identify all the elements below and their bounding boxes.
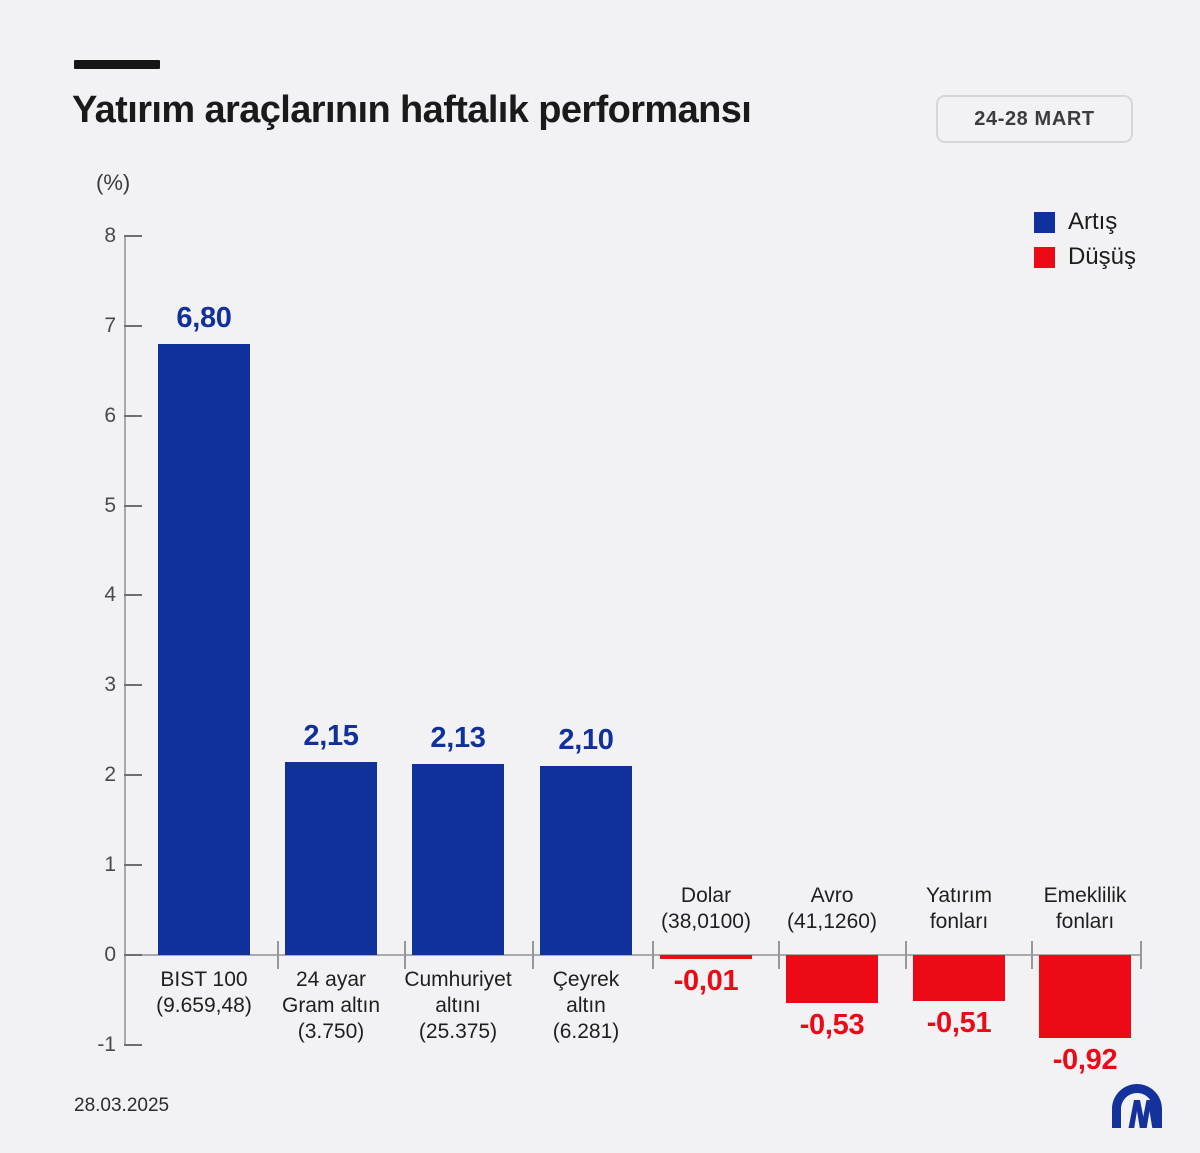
bar-value-label-6: -0,53: [786, 1009, 878, 1042]
category-separator: [652, 941, 654, 969]
category-separator: [778, 941, 780, 969]
y-axis-tick: [124, 594, 142, 596]
bar-value-label-4: 2,10: [540, 724, 632, 757]
category-separator: [1140, 941, 1142, 969]
category-separator: [532, 941, 534, 969]
y-axis-tick: [124, 325, 142, 327]
category-separator: [1031, 941, 1033, 969]
y-axis-tick: [124, 1044, 142, 1046]
y-axis-tick-label: 7: [78, 314, 116, 338]
bar-6[interactable]: [786, 955, 878, 1003]
bar-8[interactable]: [1039, 955, 1131, 1038]
bar-4[interactable]: [540, 766, 632, 955]
category-separator: [277, 941, 279, 969]
bar-3[interactable]: [412, 764, 504, 955]
bar-2[interactable]: [285, 762, 377, 955]
y-axis-tick-label: 0: [78, 943, 116, 967]
y-axis-tick: [124, 235, 142, 237]
y-axis-tick: [124, 505, 142, 507]
category-label-8: Emeklilik fonları: [1000, 883, 1170, 935]
bar-1[interactable]: [158, 344, 250, 955]
y-axis-tick: [124, 684, 142, 686]
bar-value-label-2: 2,15: [285, 720, 377, 753]
y-axis-tick-label: 6: [78, 404, 116, 428]
category-separator: [404, 941, 406, 969]
y-axis-tick-label: 1: [78, 853, 116, 877]
bar-chart-plot: -1012345678 6,802,152,132,10-0,01-0,53-0…: [0, 0, 1200, 1153]
y-axis-tick: [124, 774, 142, 776]
y-axis-tick-label: 4: [78, 583, 116, 607]
y-axis-tick-label: 3: [78, 673, 116, 697]
y-axis-line: [124, 236, 126, 1046]
bar-5[interactable]: [660, 955, 752, 959]
y-axis-tick: [124, 415, 142, 417]
y-axis-tick: [124, 954, 142, 956]
y-axis-tick-label: 8: [78, 224, 116, 248]
y-axis-tick-label: -1: [78, 1033, 116, 1057]
bar-value-label-7: -0,51: [913, 1007, 1005, 1040]
category-label-4: Çeyrek altın (6.281): [501, 967, 671, 1045]
bar-value-label-5: -0,01: [660, 965, 752, 998]
publication-date: 28.03.2025: [74, 1095, 169, 1117]
aa-logo-icon: [1108, 1080, 1166, 1132]
y-axis-tick-label: 2: [78, 763, 116, 787]
y-axis-tick: [124, 864, 142, 866]
bar-value-label-1: 6,80: [158, 302, 250, 335]
y-axis-tick-label: 5: [78, 494, 116, 518]
bar-value-label-3: 2,13: [412, 722, 504, 755]
bar-value-label-8: -0,92: [1039, 1044, 1131, 1077]
category-separator: [905, 941, 907, 969]
bar-7[interactable]: [913, 955, 1005, 1001]
